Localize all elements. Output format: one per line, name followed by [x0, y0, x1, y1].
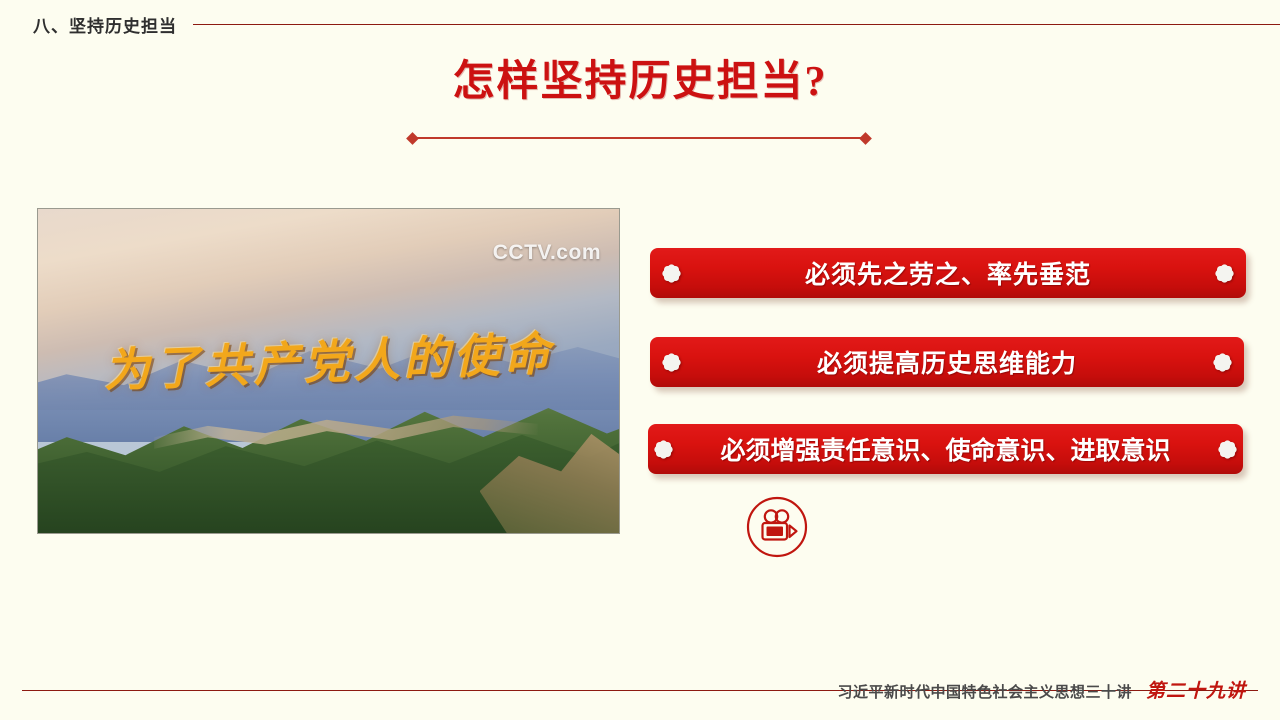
flower-ornament-icon: [664, 355, 679, 370]
flower-ornament-icon: [1217, 266, 1232, 281]
footer: 习近平新时代中国特色社会主义思想三十讲 第二十九讲: [837, 676, 1246, 703]
flower-ornament-icon: [656, 442, 671, 457]
key-point-banner-1[interactable]: 必须先之劳之、率先垂范: [650, 248, 1246, 298]
section-label: 八、坚持历史担当: [33, 12, 177, 37]
footer-lecture-number: 第二十九讲: [1146, 676, 1246, 703]
key-point-label-3: 必须增强责任意识、使命意识、进取意识: [671, 431, 1220, 467]
cctv-watermark: CCTV.com: [493, 241, 601, 265]
key-point-label-1: 必须先之劳之、率先垂范: [679, 255, 1217, 291]
title-block: 怎样坚持历史担当?: [0, 58, 1280, 108]
key-point-banner-3[interactable]: 必须增强责任意识、使命意识、进取意识: [648, 424, 1243, 474]
key-point-banner-2[interactable]: 必须提高历史思维能力: [650, 337, 1244, 387]
key-point-label-2: 必须提高历史思维能力: [679, 344, 1215, 380]
page-title: 怎样坚持历史担当?: [0, 58, 1280, 108]
video-camera-button[interactable]: [746, 496, 808, 558]
flower-ornament-icon: [1215, 355, 1230, 370]
video-camera-icon: [746, 496, 808, 558]
footer-series-title: 习近平新时代中国特色社会主义思想三十讲: [837, 681, 1132, 702]
header-divider-line: [193, 24, 1280, 25]
title-divider-ornament: [408, 132, 870, 144]
flower-ornament-icon: [664, 266, 679, 281]
flower-ornament-icon: [1220, 442, 1235, 457]
slide-header: 八、坚持历史担当: [0, 0, 1280, 48]
video-thumbnail[interactable]: 为了共产党人的使命 CCTV.com: [37, 208, 620, 534]
divider-diamond-right-icon: [859, 132, 872, 145]
divider-bar: [414, 137, 864, 139]
